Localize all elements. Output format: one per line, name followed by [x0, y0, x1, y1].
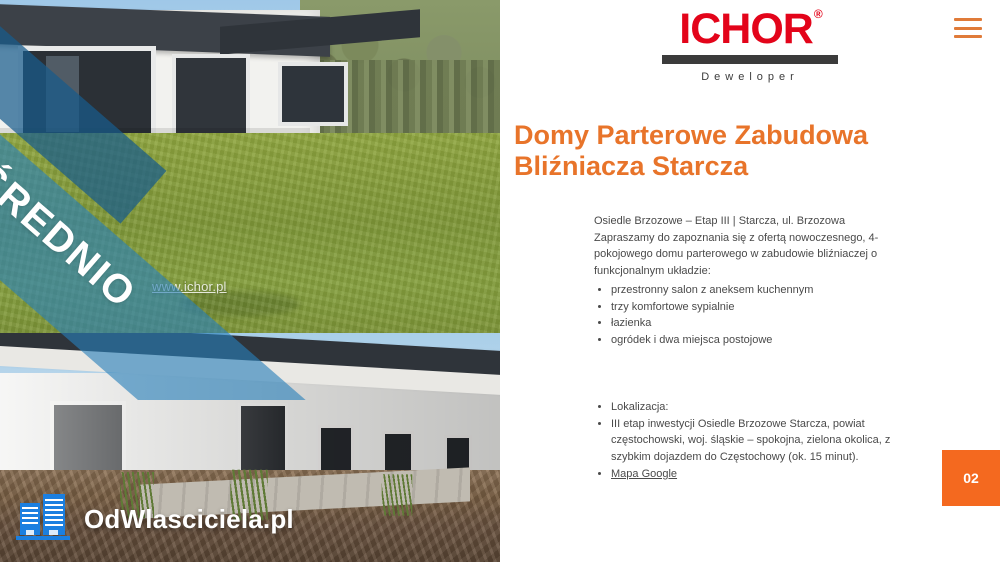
list-item: łazienka	[611, 315, 894, 332]
company-logo: ICHOR® Deweloper	[500, 8, 1000, 83]
list-item: przestronny salon z aneksem kuchennym	[611, 282, 894, 299]
page-title: Domy Parterowe Zabudowa Bliźniacza Starc…	[514, 120, 944, 182]
grass-tuft	[382, 474, 413, 515]
logo-text: ICHOR	[679, 5, 813, 53]
content-panel: ICHOR® Deweloper Domy Parterowe Zabudowa…	[500, 0, 1000, 562]
lawn	[0, 133, 500, 333]
window-small	[278, 62, 348, 126]
offer-description: Osiedle Brzozowe – Etap III | Starcza, u…	[594, 213, 894, 349]
logo-wordmark: ICHOR®	[679, 8, 820, 51]
location-description: III etap inwestycji Osiedle Brzozowe Sta…	[611, 416, 894, 466]
window-2	[318, 425, 354, 475]
location-section: Lokalizacja: III etap inwestycji Osiedle…	[594, 399, 894, 483]
page-number-badge: 02	[942, 450, 1000, 506]
logo-subtitle: Deweloper	[701, 71, 799, 83]
list-item: trzy komfortowe sypialnie	[611, 299, 894, 316]
intro-paragraph: Zapraszamy do zapoznania się z ofertą no…	[594, 230, 894, 280]
buildings-icon	[14, 491, 72, 548]
location-list: Lokalizacja: III etap inwestycji Osiedle…	[594, 399, 894, 483]
list-item: ogródek i dwa miejsca postojowe	[611, 332, 894, 349]
list-item: Mapa Google	[611, 466, 894, 483]
watermark-top: www.ichor.pl	[152, 279, 227, 294]
portal-name: OdWlasciciela.pl	[84, 504, 294, 535]
window-glare	[46, 56, 79, 132]
lawn-patch	[180, 291, 300, 317]
map-google-link[interactable]: Mapa Google	[611, 468, 677, 480]
estate-line: Osiedle Brzozowe – Etap III | Starcza, u…	[594, 213, 894, 230]
feature-list: przestronny salon z aneksem kuchennym tr…	[594, 282, 894, 349]
photo-bungalow-lawn: www.ichor.pl	[0, 0, 500, 333]
portal-brand-lockup: OdWlasciciela.pl	[14, 491, 294, 548]
logo-underbar	[662, 55, 838, 64]
location-label: Lokalizacja:	[611, 399, 894, 416]
slide: www.ichor.pl www.ichor.pl	[0, 0, 1000, 562]
trademark-icon: ®	[814, 7, 822, 21]
media-column: www.ichor.pl www.ichor.pl	[0, 0, 500, 562]
